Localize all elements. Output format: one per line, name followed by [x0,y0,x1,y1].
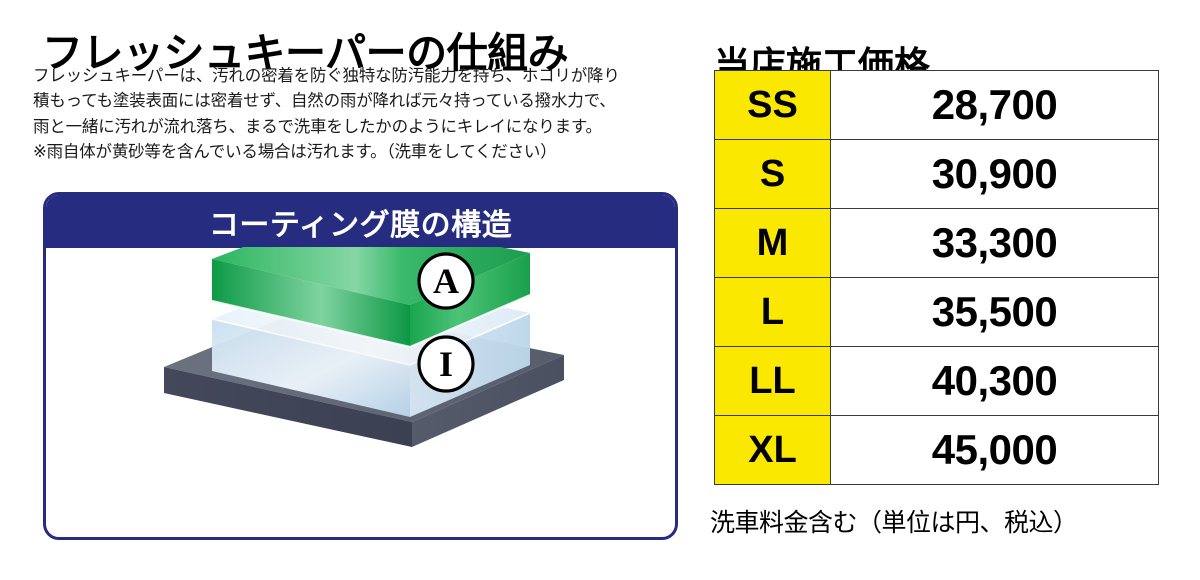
price-cell: 33,300 [831,209,1159,278]
price-cell: 35,500 [831,278,1159,347]
size-cell: L [715,278,831,347]
left-column: フレッシュキーパーの仕組み フレッシュキーパーは、汚れの密着を防ぐ独特な防汚能力… [0,0,690,580]
size-cell: SS [715,71,831,140]
size-cell: M [715,209,831,278]
intro-paragraph: フレッシュキーパーは、汚れの密着を防ぐ独特な防汚能力を持ち、ホコリが降り 積もっ… [33,64,681,166]
table-row: M 33,300 [715,209,1159,278]
price-cell: 40,300 [831,347,1159,416]
right-column: 当店施工価格 SS 28,700 S 30,900 M 33,300 L 35,… [690,0,1200,580]
size-cell: LL [715,347,831,416]
intro-line: フレッシュキーパーは、汚れの密着を防ぐ独特な防汚能力を持ち、ホコリが降り [33,64,681,89]
coating-diagram-area: A I [46,248,675,423]
coating-layer-diagram: A I [154,247,574,477]
layer-badge-a-label: A [433,261,459,301]
price-table: SS 28,700 S 30,900 M 33,300 L 35,500 LL … [714,70,1159,485]
layer-badge-i: I [419,337,473,391]
size-cell: XL [715,416,831,485]
price-cell: 45,000 [831,416,1159,485]
table-row: S 30,900 [715,140,1159,209]
coating-panel-header: コーティング膜の構造 [46,195,675,248]
price-note: 洗車料金含む（単位は円、税込） [710,503,1078,539]
table-row: L 35,500 [715,278,1159,347]
table-row: LL 40,300 [715,347,1159,416]
price-cell: 30,900 [831,140,1159,209]
layer-badge-a: A [419,254,473,308]
table-row: SS 28,700 [715,71,1159,140]
intro-line: 積もっても塗装表面には密着せず、自然の雨が降れば元々持っている撥水力で、 [33,89,681,114]
intro-line: ※雨自体が黄砂等を含んでいる場合は汚れます。（洗車をしてください） [33,140,681,165]
layer-badge-i-label: I [439,344,453,384]
table-row: XL 45,000 [715,416,1159,485]
intro-line: 雨と一緒に汚れが流れ落ち、まるで洗車をしたかのようにキレイになります。 [33,115,681,140]
size-cell: S [715,140,831,209]
coating-structure-panel: コーティング膜の構造 [43,192,678,540]
price-cell: 28,700 [831,71,1159,140]
